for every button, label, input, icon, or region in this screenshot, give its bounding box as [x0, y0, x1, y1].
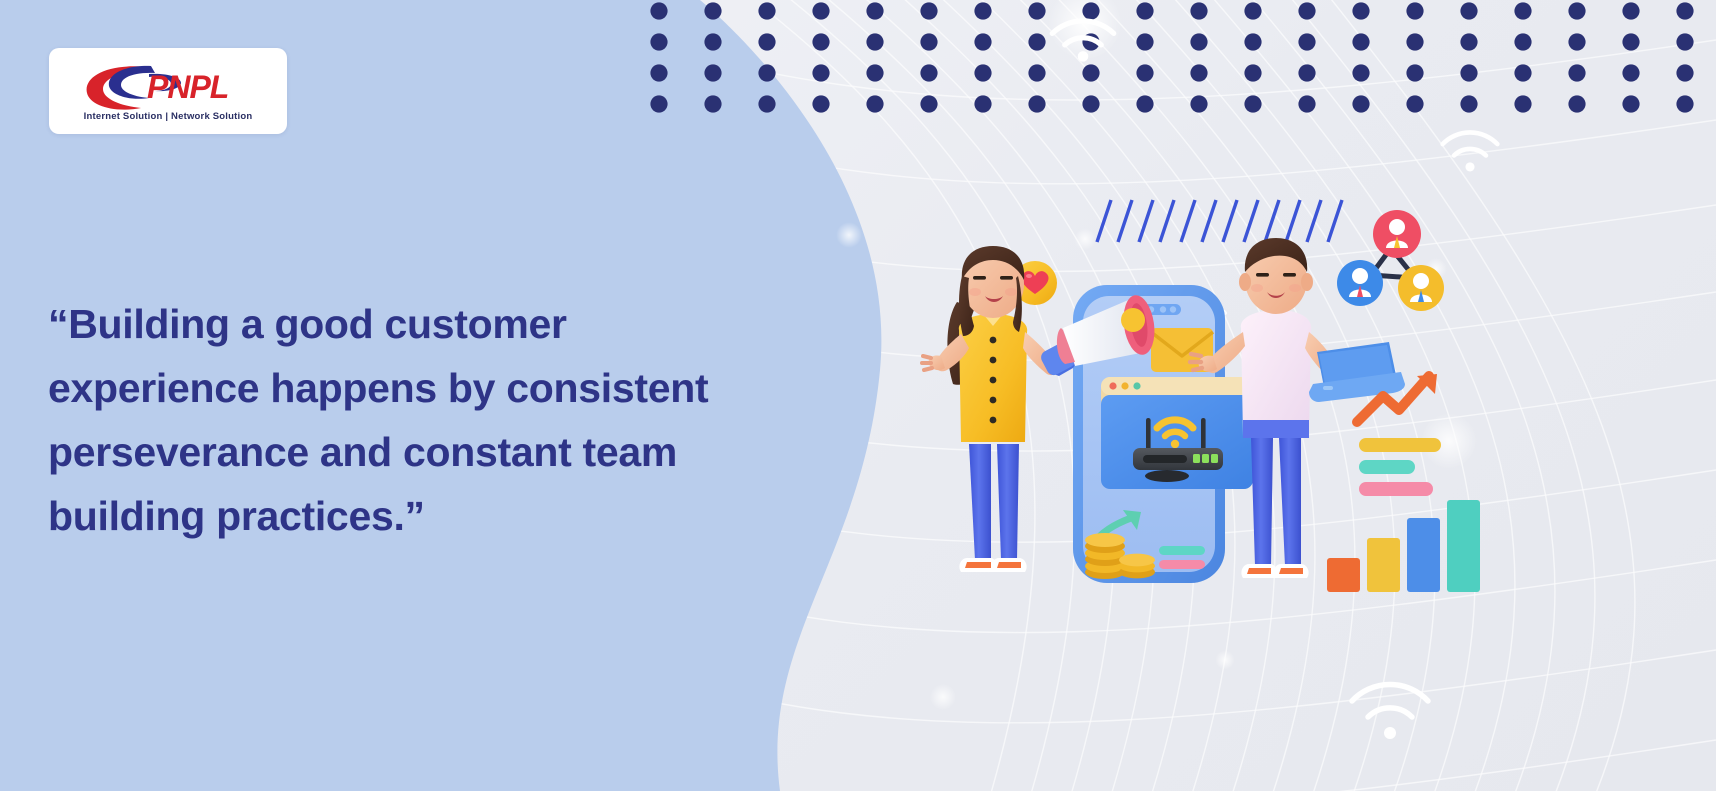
glow-dot-left: [836, 222, 862, 248]
quote-line-1: “Building a good customer: [48, 292, 818, 356]
wifi-icon: [1340, 645, 1440, 745]
quote-line-3: perseverance and constant team: [48, 420, 818, 484]
glow-dot-bottom: [930, 684, 956, 710]
wifi-icon: [1432, 100, 1508, 176]
customer-experience-illustration: [905, 180, 1525, 610]
promo-banner: PNPL Internet Solution | Network Solutio…: [0, 0, 1716, 791]
router-card: [1101, 377, 1253, 489]
wifi-icon: [1035, 0, 1131, 66]
pnpl-logo-card[interactable]: PNPL Internet Solution | Network Solutio…: [49, 48, 287, 134]
quote-line-4: building practices.”: [48, 484, 818, 548]
logo-wordmark: PNPL: [147, 69, 228, 106]
vertical-bar-chart: [1327, 500, 1480, 592]
dot-grid-pattern: [650, 2, 1716, 120]
quote-line-2: experience happens by consistent: [48, 356, 818, 420]
quote-headline: “Building a good customer experience hap…: [48, 292, 818, 548]
network-avatars-icon: [1337, 210, 1444, 311]
glow-dot-bottom-2: [1215, 650, 1235, 670]
pnpl-logo-mark: PNPL: [63, 61, 273, 113]
horizontal-bar-chart: [1359, 438, 1441, 496]
